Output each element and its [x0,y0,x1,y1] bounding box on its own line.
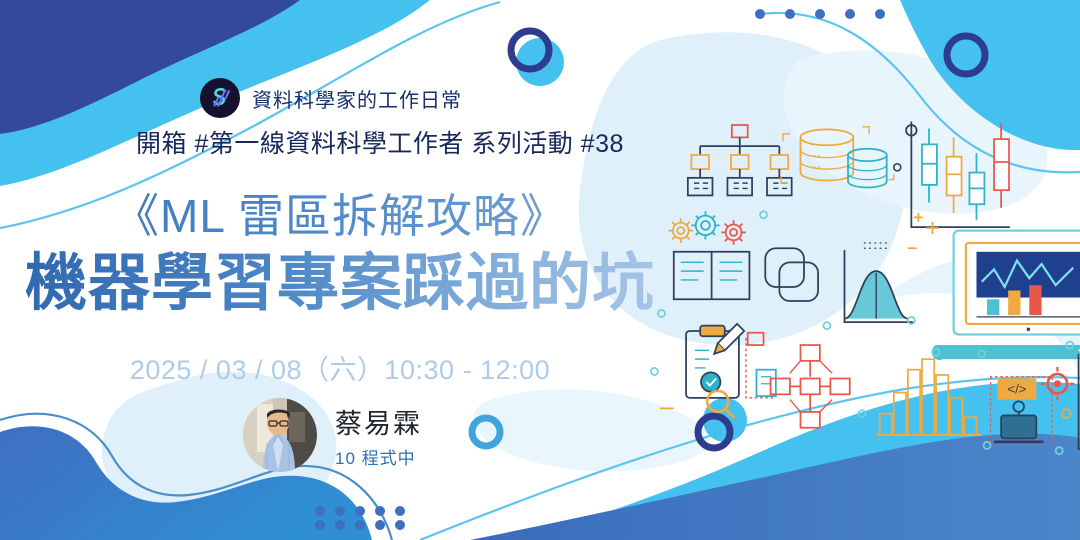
speaker-portrait-avatar [243,398,317,472]
event-banner: </> [0,0,1080,540]
speaker-block: 蔡易霖 10 程式中 [243,398,422,472]
ds-circle-logo-icon [200,78,240,118]
brand-row: 資料科學家的工作日常 [200,78,462,118]
brand-name: 資料科學家的工作日常 [252,84,462,113]
speaker-name: 蔡易霖 [335,402,422,441]
event-date-time: 2025 / 03 / 08（六）10:30 - 12:00 [0,348,680,387]
series-line: 開箱 #第一線資料科學工作者 系列活動 #38 [136,124,624,160]
speaker-title: 10 程式中 [335,444,422,469]
speaker-text: 蔡易霖 10 程式中 [335,402,422,469]
event-title-line-2: 機器學習專案踩過的坑 [0,232,680,322]
